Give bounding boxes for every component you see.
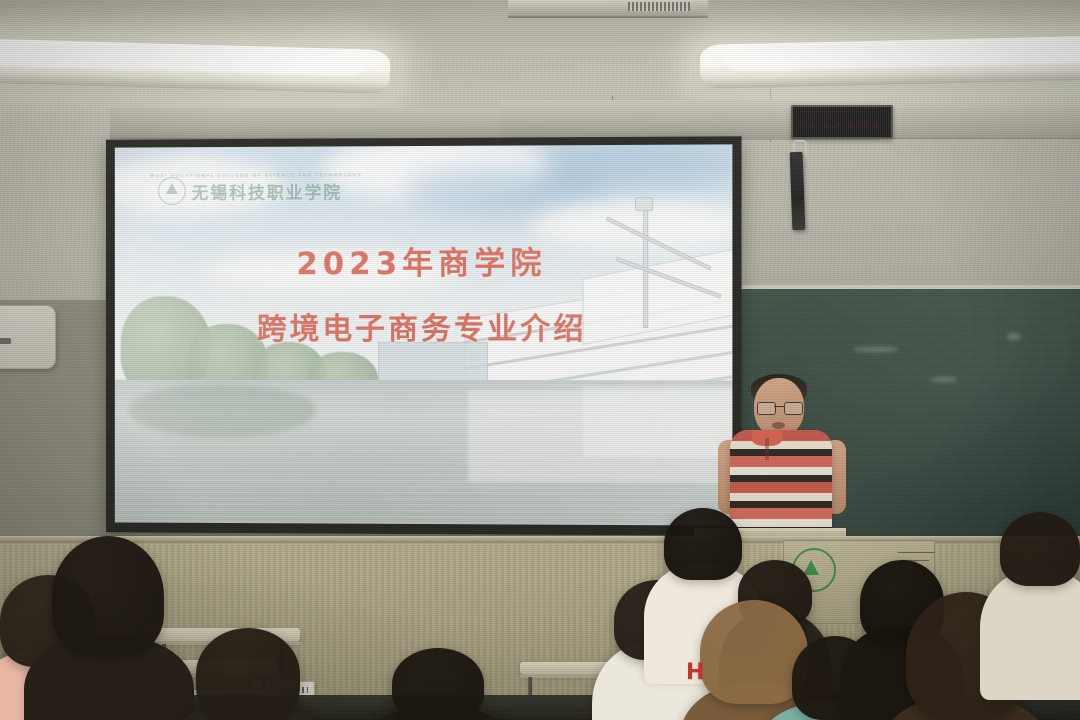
student-mid-1-head bbox=[392, 648, 484, 720]
shirt-stripe bbox=[730, 508, 832, 519]
chalk-smudge bbox=[853, 347, 899, 352]
projection-screen-frame: 无锡科技职业学院 WUXI VOCATIONAL COLLEGE OF SCIE… bbox=[106, 136, 742, 535]
student-right-3-head bbox=[1000, 512, 1080, 586]
glasses-right-lens bbox=[784, 402, 803, 415]
shirt-stripe bbox=[730, 475, 832, 482]
plaque-mark-icon bbox=[0, 338, 11, 344]
recycle-arrow-icon bbox=[803, 560, 819, 575]
ceiling-vent-grill-icon bbox=[628, 2, 690, 11]
led-marquee-sign: · · · · · · · · · · · · · bbox=[791, 105, 893, 139]
classroom-photo: · · · · · · · · · · · · · bbox=[0, 0, 1080, 720]
shirt-print-letter: H bbox=[686, 660, 704, 685]
presenter-placket bbox=[765, 438, 769, 460]
glasses-bridge bbox=[774, 406, 784, 407]
student-mid-3-head bbox=[664, 508, 742, 580]
shirt-stripe bbox=[730, 449, 832, 456]
shirt-stripe bbox=[730, 519, 832, 527]
mast-top-node bbox=[635, 197, 653, 211]
slide-title-line-2: 跨境电子商务专业介绍 bbox=[115, 304, 733, 348]
student-left-3-head bbox=[196, 628, 300, 720]
presenter-mouth bbox=[772, 422, 785, 429]
chalk-smudge bbox=[931, 377, 957, 382]
building-reflection bbox=[583, 386, 733, 457]
wall-sign-plaque bbox=[0, 305, 56, 369]
slide-institution-name-en: WUXI VOCATIONAL COLLEGE OF SCIENCE AND T… bbox=[150, 172, 362, 178]
glasses-icon bbox=[757, 402, 801, 413]
chalk-smudge bbox=[1007, 333, 1021, 340]
shirt-stripe bbox=[730, 493, 832, 501]
slide-institution-name-cn: 无锡科技职业学院 bbox=[192, 178, 343, 203]
light-core bbox=[0, 47, 365, 77]
presenter bbox=[716, 378, 846, 548]
shirt-stripe bbox=[730, 482, 832, 493]
slide-institution-logo: 无锡科技职业学院 bbox=[158, 176, 342, 205]
led-pixel-grid bbox=[793, 107, 891, 137]
shirt-stripe bbox=[730, 441, 832, 449]
projection-screen: 无锡科技职业学院 WUXI VOCATIONAL COLLEGE OF SCIE… bbox=[115, 144, 733, 525]
student-left-2-head bbox=[52, 536, 164, 656]
shirt-stripe bbox=[730, 456, 832, 467]
slide-title-line-1: 2023年商学院 bbox=[115, 237, 733, 283]
shirt-stripe bbox=[730, 467, 832, 475]
student-right-3-body bbox=[980, 570, 1080, 700]
light-core bbox=[725, 44, 1080, 72]
ceiling-speaker bbox=[790, 152, 806, 230]
shirt-stripe bbox=[730, 501, 832, 508]
presenter-striped-shirt bbox=[730, 430, 832, 538]
ceiling-light-right bbox=[700, 35, 1080, 89]
glasses-left-lens bbox=[757, 402, 776, 415]
triangle-in-circle-logo-icon bbox=[158, 177, 186, 205]
tree-reflection bbox=[129, 384, 317, 438]
